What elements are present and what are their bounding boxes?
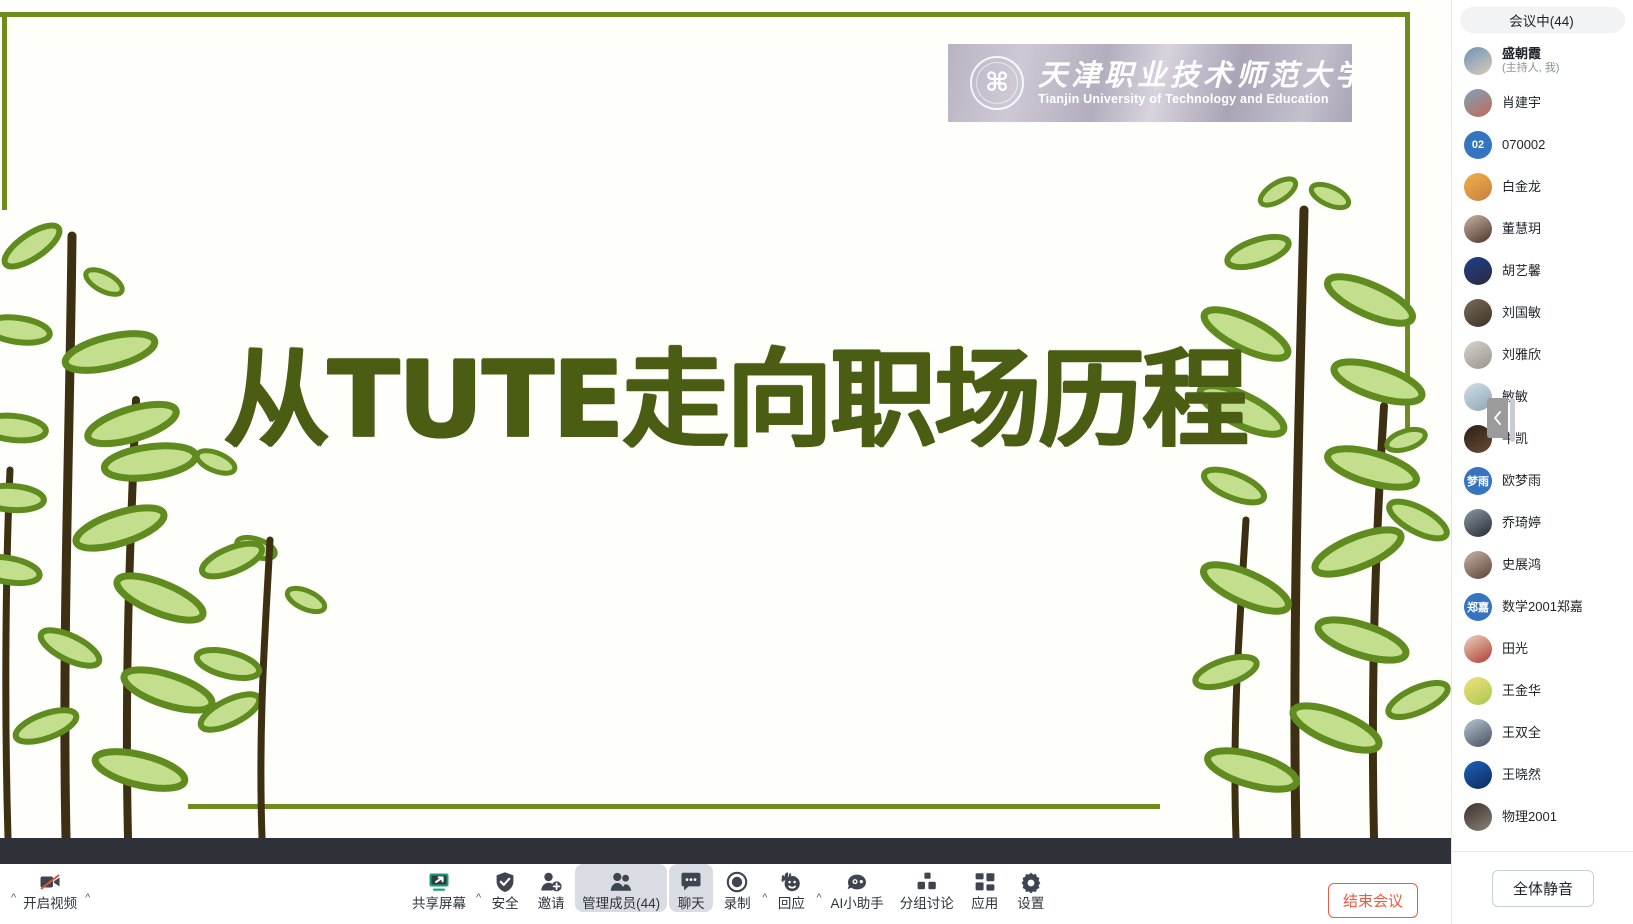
apps-grid-icon xyxy=(973,870,997,894)
toolbar-breakout-label: 分组讨论 xyxy=(900,896,954,912)
toolbar-video-label: 开启视频 xyxy=(23,896,77,912)
collapse-panel-button[interactable] xyxy=(1487,398,1508,438)
participant-name-block: 董慧玥 xyxy=(1502,222,1541,237)
chat-bubble-icon xyxy=(679,870,703,894)
presentation-slide: ⌘ 天津职业技术师范大学 Tianjin University of Techn… xyxy=(0,0,1451,838)
ai-robot-icon xyxy=(845,870,869,894)
toolbar-invite-label: 邀请 xyxy=(538,896,565,912)
avatar xyxy=(1464,509,1492,537)
participant-row[interactable]: 刘雅欣 xyxy=(1452,334,1633,376)
avatar xyxy=(1464,803,1492,831)
participant-name: 070002 xyxy=(1502,138,1545,153)
video-off-icon xyxy=(38,869,62,895)
avatar xyxy=(1464,257,1492,285)
participant-name-block: 史展鸿 xyxy=(1502,558,1541,573)
participant-name-block: 王双全 xyxy=(1502,726,1541,741)
toolbar-apps-button[interactable]: 应用 xyxy=(963,864,1007,912)
participant-name: 王金华 xyxy=(1502,684,1541,699)
toolbar-video-button[interactable]: 开启视频 xyxy=(16,864,84,912)
participant-row[interactable]: 胡艺馨 xyxy=(1452,250,1633,292)
participants-panel: 会议中(44) 盛朝霞(主持人, 我)肖建宇02070002白金龙董慧玥胡艺馨刘… xyxy=(1451,0,1633,924)
participant-row[interactable]: 乔琦婷 xyxy=(1452,502,1633,544)
ai-robot-icon xyxy=(845,869,869,895)
university-logo-banner: ⌘ 天津职业技术师范大学 Tianjin University of Techn… xyxy=(948,44,1352,122)
shield-icon xyxy=(493,870,517,894)
apps-grid-icon xyxy=(973,869,997,895)
toolbar-center-group: 共享屏幕^ 安全 邀请 管理成员(44) 聊天 录制^ xyxy=(405,864,1053,924)
logo-text-block: 天津职业技术师范大学 Tianjin University of Technol… xyxy=(1038,60,1352,106)
reactions-icon xyxy=(779,869,803,895)
participant-row[interactable]: 牛凯 xyxy=(1452,418,1633,460)
scrollbar-thumb[interactable] xyxy=(1510,398,1515,442)
invite-person-icon xyxy=(539,870,563,894)
toolbar-chat-button[interactable]: 聊天 xyxy=(669,864,713,912)
avatar-initials: 梦雨 xyxy=(1464,467,1492,495)
shared-screen-stage: ⌘ 天津职业技术师范大学 Tianjin University of Techn… xyxy=(0,0,1451,838)
participant-name-block: 刘国敏 xyxy=(1502,306,1541,321)
university-seal-icon: ⌘ xyxy=(970,56,1024,110)
toolbar-top-strip xyxy=(0,838,1451,864)
participant-row[interactable]: 郑嘉数学2001郑嘉 xyxy=(1452,586,1633,628)
participant-row[interactable]: 梦雨欧梦雨 xyxy=(1452,460,1633,502)
toolbar-reactions-label: 回应 xyxy=(778,896,805,912)
toolbar-share-screen-caret[interactable]: ^ xyxy=(476,893,481,904)
avatar xyxy=(1464,551,1492,579)
toolbar-share-screen-label: 共享屏幕 xyxy=(412,896,466,912)
participant-name: 史展鸿 xyxy=(1502,558,1541,573)
toolbar-chat-label: 聊天 xyxy=(678,896,705,912)
participant-name: 乔琦婷 xyxy=(1502,516,1541,531)
participant-row[interactable]: 敏敏 xyxy=(1452,376,1633,418)
participant-row[interactable]: 肖建宇 xyxy=(1452,82,1633,124)
avatar xyxy=(1464,761,1492,789)
meeting-window: ⌘ 天津职业技术师范大学 Tianjin University of Techn… xyxy=(0,0,1633,924)
toolbar-apps-label: 应用 xyxy=(971,896,998,912)
toolbar-video-caret[interactable]: ^ xyxy=(85,893,90,904)
participant-name-block: 肖建宇 xyxy=(1502,96,1541,111)
video-off-icon xyxy=(38,870,62,894)
participant-name-block: 070002 xyxy=(1502,138,1545,153)
toolbar-share-screen-button[interactable]: 共享屏幕 xyxy=(405,864,473,912)
toolbar-security-button[interactable]: 安全 xyxy=(483,864,527,912)
avatar xyxy=(1464,299,1492,327)
participant-name-block: 王金华 xyxy=(1502,684,1541,699)
toolbar-ai-assistant-button[interactable]: AI小助手 xyxy=(824,864,891,912)
participant-list-scrollbar[interactable] xyxy=(1510,40,1515,851)
avatar xyxy=(1464,47,1492,75)
participant-name-block: 王晓然 xyxy=(1502,768,1541,783)
toolbar-settings-button[interactable]: 设置 xyxy=(1009,864,1053,912)
university-name-cn: 天津职业技术师范大学 xyxy=(1038,60,1352,90)
breakout-rooms-icon xyxy=(915,869,939,895)
toolbar-record-button[interactable]: 录制 xyxy=(715,864,759,912)
invite-person-icon xyxy=(539,869,563,895)
university-name-en: Tianjin University of Technology and Edu… xyxy=(1038,92,1352,106)
toolbar-record-label: 录制 xyxy=(724,896,751,912)
slide-frame-left xyxy=(2,12,7,210)
record-circle-icon xyxy=(725,870,749,894)
meeting-toolbar: 音^ 开启视频^ 共享屏幕^ 安全 邀请 管理成员(44) xyxy=(0,838,1451,924)
participant-name: 欧梦雨 xyxy=(1502,474,1541,489)
participant-name-block: 乔琦婷 xyxy=(1502,516,1541,531)
toolbar-invite-button[interactable]: 邀请 xyxy=(529,864,573,912)
avatar-initials: 02 xyxy=(1464,131,1492,159)
slide-title: 从TUTE走向职场历程 xyxy=(300,336,1170,464)
avatar-initials: 郑嘉 xyxy=(1464,593,1492,621)
slide-frame-bottom xyxy=(188,804,1160,809)
shield-icon xyxy=(493,869,517,895)
participants-icon xyxy=(609,870,633,894)
participant-row[interactable]: 物理2001 xyxy=(1452,796,1633,838)
avatar xyxy=(1464,341,1492,369)
participant-row[interactable]: 田光 xyxy=(1452,628,1633,670)
participant-name: 董慧玥 xyxy=(1502,222,1541,237)
participant-name: 刘国敏 xyxy=(1502,306,1541,321)
chevron-left-icon xyxy=(1493,411,1502,425)
participant-row[interactable]: 王晓然 xyxy=(1452,754,1633,796)
record-circle-icon xyxy=(725,869,749,895)
slide-frame-right xyxy=(1405,12,1410,442)
toolbar-breakout-button[interactable]: 分组讨论 xyxy=(893,864,961,912)
toolbar-audio-button[interactable]: 音 xyxy=(0,864,10,912)
participant-row[interactable]: 盛朝霞(主持人, 我) xyxy=(1452,40,1633,82)
participant-name: 王晓然 xyxy=(1502,768,1541,783)
share-screen-icon xyxy=(427,870,451,894)
participant-name: 胡艺馨 xyxy=(1502,264,1541,279)
participant-row[interactable]: 王金华 xyxy=(1452,670,1633,712)
end-meeting-button[interactable]: 结束会议 xyxy=(1328,883,1418,918)
participant-name-block: 田光 xyxy=(1502,642,1528,657)
participant-name: 王双全 xyxy=(1502,726,1541,741)
reactions-icon xyxy=(779,870,803,894)
avatar xyxy=(1464,719,1492,747)
toolbar-ai-assistant-label: AI小助手 xyxy=(831,896,884,912)
gear-icon xyxy=(1019,869,1043,895)
mute-all-button[interactable]: 全体静音 xyxy=(1492,870,1594,907)
participant-name-block: 白金龙 xyxy=(1502,180,1541,195)
toolbar-security-label: 安全 xyxy=(492,896,519,912)
participant-name: 田光 xyxy=(1502,642,1528,657)
participant-row[interactable]: 刘国敏 xyxy=(1452,292,1633,334)
gear-icon xyxy=(1019,870,1043,894)
participant-list[interactable]: 盛朝霞(主持人, 我)肖建宇02070002白金龙董慧玥胡艺馨刘国敏刘雅欣敏敏牛… xyxy=(1452,40,1633,851)
toolbar-left-group: 音^ 开启视频^ xyxy=(0,864,90,924)
participant-row[interactable]: 02070002 xyxy=(1452,124,1633,166)
participant-row[interactable]: 史展鸿 xyxy=(1452,544,1633,586)
participants-icon xyxy=(609,869,633,895)
participant-row[interactable]: 王双全 xyxy=(1452,712,1633,754)
participants-panel-footer: 全体静音 xyxy=(1452,851,1633,924)
participant-row[interactable]: 董慧玥 xyxy=(1452,208,1633,250)
participant-name-block: 欧梦雨 xyxy=(1502,474,1541,489)
avatar xyxy=(1464,677,1492,705)
avatar xyxy=(1464,173,1492,201)
avatar xyxy=(1464,215,1492,243)
participant-row[interactable]: 白金龙 xyxy=(1452,166,1633,208)
toolbar-participants-label: 管理成员(44) xyxy=(582,896,660,912)
participant-name: 白金龙 xyxy=(1502,180,1541,195)
toolbar-reactions-caret[interactable]: ^ xyxy=(816,893,821,904)
chat-bubble-icon xyxy=(679,869,703,895)
share-screen-icon xyxy=(427,869,451,895)
participant-name: 肖建宇 xyxy=(1502,96,1541,111)
avatar xyxy=(1464,635,1492,663)
participant-name: 刘雅欣 xyxy=(1502,348,1541,363)
participant-name-block: 刘雅欣 xyxy=(1502,348,1541,363)
toolbar-participants-button[interactable]: 管理成员(44) xyxy=(575,864,667,912)
participants-panel-header: 会议中(44) xyxy=(1452,0,1633,40)
slide-frame-top xyxy=(0,12,1410,17)
toolbar-reactions-button[interactable]: 回应 xyxy=(769,864,813,912)
toolbar-settings-label: 设置 xyxy=(1017,896,1044,912)
avatar xyxy=(1464,89,1492,117)
toolbar-record-caret[interactable]: ^ xyxy=(762,893,767,904)
participant-name-block: 胡艺馨 xyxy=(1502,264,1541,279)
breakout-rooms-icon xyxy=(915,870,939,894)
tab-in-meeting[interactable]: 会议中(44) xyxy=(1460,7,1625,33)
seal-glyph: ⌘ xyxy=(985,70,1009,96)
